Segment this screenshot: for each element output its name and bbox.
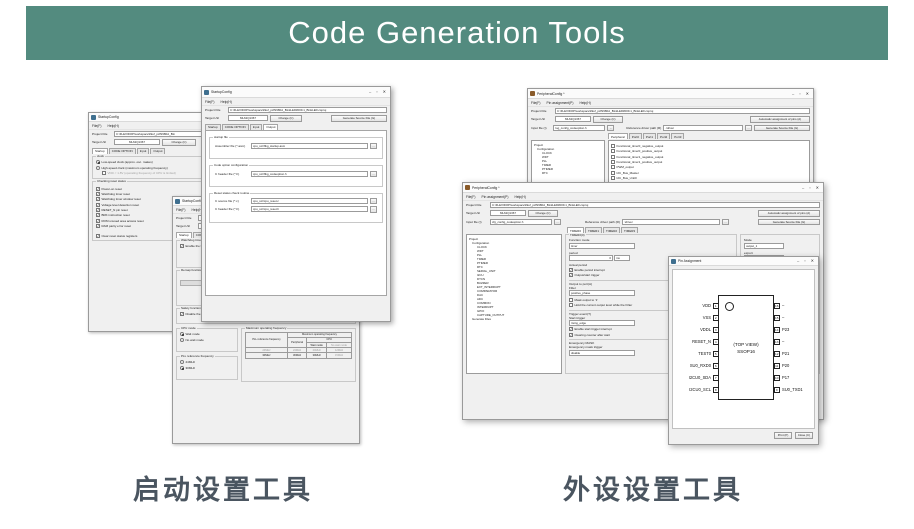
pin-name[interactable]: VDDL (673, 327, 711, 332)
radio-pll-30mhz[interactable]: 30MHz (180, 365, 234, 370)
actual-period-label: Actual period (569, 263, 587, 267)
pin-number: 16 (774, 303, 780, 309)
maximize-icon[interactable]: ▫ (809, 185, 810, 191)
app-icon (530, 91, 535, 96)
project-file-label: Project File (205, 108, 226, 112)
caption-startup-tool: 启动设置工具 (133, 468, 313, 507)
freq-table-title: Maximum operating frequency (245, 326, 287, 330)
app-icon (465, 185, 470, 190)
pin-number: 9 (774, 387, 780, 393)
close-icon[interactable]: ✕ (816, 185, 819, 191)
pin-number: 4 (713, 339, 719, 345)
checkbox-icon[interactable] (611, 176, 615, 180)
pin-name[interactable]: – (782, 315, 784, 320)
watchdog-group-title: Watchdog timer (180, 238, 203, 242)
radio-label: 24MHz (186, 360, 196, 364)
target-lsi-row: Target LSI ML62Q1367 Change (C) Automati… (528, 115, 813, 124)
titlebar[interactable]: PeripheralConfig * – ▫ ✕ (528, 89, 813, 99)
input-file-row: Input file (I) log_config_codeoption.h .… (528, 124, 813, 133)
radio-label: No wait mode (186, 338, 204, 342)
checkbox-icon[interactable]: ✓ (96, 197, 100, 201)
tab-timer1[interactable]: TIMER1 (585, 227, 602, 233)
reset-status-title: Checking reset status (96, 179, 127, 183)
checkbox-icon[interactable]: ✓ (180, 312, 184, 316)
reset-c-header-input[interactable]: cpu_src/cpu_reset.h (251, 206, 368, 212)
max-operating-frequency-table: PLL reference frequency Maximum operatin… (245, 332, 352, 359)
radio-icon[interactable] (180, 360, 184, 364)
safety-group-title: Safety function (180, 306, 202, 310)
close-icon[interactable]: ✕ (811, 258, 814, 264)
reference-path-label: Reference driver path (R) (585, 220, 620, 224)
target-lsi-value: ML62Q1367 (555, 116, 591, 122)
window-title: StartupConfig (98, 115, 119, 119)
change-button[interactable]: Change (C) (270, 115, 302, 122)
code-option-config-title: Code option configuration (213, 163, 249, 167)
target-lsi-label: Target LSI (176, 224, 196, 228)
menu-pin-assignment[interactable]: Pin assignment(P) (482, 195, 509, 199)
pin-name[interactable]: – (782, 303, 784, 308)
emergency-select[interactable]: disable (569, 350, 635, 356)
checkbox-icon[interactable]: ✓ (180, 244, 184, 248)
list-item-label: Functional_timer1_negative_output (617, 155, 664, 159)
pin-number: 15 (774, 315, 780, 321)
period-unit-select[interactable]: ms (614, 255, 630, 261)
menu-file[interactable]: File(F) (92, 124, 102, 128)
menu-file[interactable]: File(F) (176, 208, 186, 212)
checkbox-label: Clear reset status registers (102, 234, 138, 238)
timer-group-title: TIMER0(0) (569, 233, 586, 237)
radio-icon[interactable] (180, 338, 184, 342)
close-icon[interactable]: ✕ (806, 91, 809, 97)
project-file-label: Project File (176, 216, 196, 220)
pin-name[interactable]: SU0_TXD1 (782, 387, 803, 392)
reference-path-browse-button[interactable]: ... (722, 219, 729, 226)
checkbox-icon[interactable]: ✓ (96, 213, 100, 217)
project-file-label: Project File (92, 132, 112, 136)
pin-number: 6 (713, 363, 719, 369)
radio-icon[interactable] (96, 160, 100, 164)
list-item-label: Functional_timer0_positive_output (617, 149, 663, 153)
tab-port1[interactable]: Port1 (643, 133, 656, 139)
project-file-row: Project File C:\FLEXIDOP\workspace\flkuf… (202, 106, 390, 114)
menu-pin-assignment[interactable]: Pin assignment(P) (547, 101, 574, 105)
window-pin-assignment[interactable]: Pin Assignment – ▫ ✕ (TOP VIEW) SSOP16 1… (668, 256, 819, 445)
mode-select[interactable]: output_1 (744, 243, 784, 249)
reference-path-label: Reference driver path (R) (626, 126, 661, 130)
checkbox-icon[interactable]: ✓ (569, 273, 573, 277)
menu-help[interactable]: Help(H) (514, 195, 525, 199)
radio-no-wait-mode[interactable]: No wait mode (180, 337, 234, 342)
mode-label: Mode (744, 238, 816, 242)
project-tree[interactable]: Project Configuration CLOCK WDT PLL TIME… (466, 234, 562, 374)
clock-group-title: clock (96, 154, 105, 158)
pin-name[interactable]: P20 (782, 363, 789, 368)
radio-label: Wait mode (186, 332, 200, 336)
project-file-row: Project File C:\FLEXIDOP\workspace\flkuf… (528, 107, 813, 115)
checkbox-label: Watchdog timer window reset (102, 197, 141, 201)
filter-select[interactable]: positive_phase (569, 290, 635, 296)
change-button[interactable]: Change (C) (593, 116, 623, 123)
generate-source-file-button[interactable]: Generate Source File (G) (754, 125, 810, 132)
list-item-label: PWM_output (617, 165, 634, 169)
target-lsi-row: Target LSI ML62Q1367 Change (C) Automati… (463, 209, 823, 218)
radio-icon[interactable] (96, 166, 100, 170)
pin-name[interactable]: – (782, 339, 784, 344)
reset-c-header-browse-button[interactable]: ... (370, 206, 377, 213)
checkbox-label: Watchdog timer reset (102, 192, 130, 196)
caption-peripheral-tool: 外设设置工具 (563, 468, 743, 507)
tab-port2[interactable]: Port2 (657, 133, 670, 139)
checkbox-icon[interactable]: ✓ (96, 203, 100, 207)
cpu-mode-title: CPU mode (180, 326, 197, 330)
period-input[interactable]: 0 (569, 255, 613, 261)
freq-table-group: Maximum operating frequency PLL referenc… (241, 328, 356, 382)
pin-name[interactable]: P17 (782, 375, 789, 380)
tabstrip[interactable]: Startup CODE OPTION Input Output (202, 123, 390, 130)
checkbox-icon[interactable] (611, 171, 615, 175)
input-file-input[interactable]: cfg_config_codeoption.h (490, 219, 552, 225)
checkbox-label: RAM parity error reset (102, 224, 132, 228)
input-file-label: Input file (I) (531, 126, 551, 130)
pin-name[interactable]: I2CU0_SDA (673, 375, 711, 380)
input-file-input[interactable]: log_config_codeoption.h (553, 125, 605, 131)
print-button[interactable]: Print (P) (774, 432, 792, 439)
project-file-input[interactable]: C:\FLEXIDOP\workspace\flkuf_pcfN980ci_Bi… (490, 202, 820, 208)
header-band: Code Generation Tools (26, 6, 888, 60)
checkbox-icon[interactable] (611, 155, 615, 159)
checkbox-label: Mask output to '1' (575, 298, 598, 302)
pin-name[interactable]: VDD (673, 303, 711, 308)
input-file-label: Input file (I) (466, 220, 488, 224)
checkbox-icon[interactable]: ✓ (96, 224, 100, 228)
checkbox-icon[interactable]: ✓ (96, 208, 100, 212)
maximize-icon[interactable]: ▫ (804, 258, 805, 264)
tab-code-option[interactable]: CODE OPTION (222, 124, 249, 130)
pin-name[interactable]: SU0_RXD0 (673, 363, 711, 368)
reset-routine-title: Reset status check routine (213, 191, 250, 195)
target-lsi-label: Target LSI (466, 211, 488, 215)
app-icon (91, 115, 96, 120)
app-icon (204, 90, 209, 95)
project-file-row: Project File C:\FLEXIDOP\workspace\flkuf… (463, 201, 823, 209)
tabstrip[interactable]: Peripheral Port0 Port1 Port2 Port3 (528, 132, 813, 139)
list-item-label: Functional_timer1_positive_output (617, 160, 663, 164)
window-title: PeripheralConfig * (537, 92, 565, 96)
checkbox-icon[interactable] (611, 160, 615, 164)
checkbox-label: Voltage level detection reset (102, 203, 140, 207)
tab-output[interactable]: Output (263, 124, 278, 130)
list-item-label: I2C_Bus_Master (617, 171, 639, 175)
checkbox-label: VDD < 1.8V (operating frequency of CPU i… (108, 171, 176, 175)
titlebar[interactable]: Pin Assignment – ▫ ✕ (669, 257, 818, 266)
checkbox-icon[interactable] (611, 165, 615, 169)
list-item-label: Functional_timer0_negative_output (617, 144, 664, 148)
pin-number: 13 (774, 339, 780, 345)
checkbox-label: RESET_N pin reset (102, 208, 128, 212)
auto-assign-pins-button[interactable]: Automatic assignment of pins (A) (758, 210, 820, 217)
cell-nowait-30: 15MHz (327, 353, 352, 358)
menu-file[interactable]: File(F) (205, 100, 215, 104)
reset-status-routine-group: Reset status check routine C source file… (209, 193, 383, 223)
menu-file[interactable]: File(F) (531, 101, 541, 105)
checkbox-icon[interactable]: ✓ (96, 187, 100, 191)
pin-name[interactable]: P21 (782, 351, 789, 356)
function-mode-label: Function mode (569, 238, 733, 242)
pin-name[interactable]: P23 (782, 327, 789, 332)
cpu-mode-group: CPU mode Wait mode No wait mode (176, 328, 238, 352)
checkbox-icon[interactable]: ✓ (569, 268, 573, 272)
input-file-browse-button[interactable]: ... (607, 125, 614, 132)
checkbox-label: Power-on reset (102, 187, 122, 191)
pll-ref-group: PLL reference frequency 24MHz 30MHz (176, 356, 238, 380)
checkbox-label: Enable start trigger interrupt (575, 327, 612, 331)
assembler-file-browse-button[interactable]: ... (370, 143, 377, 150)
pin-number: 8 (713, 387, 719, 393)
tab-input[interactable]: Input (250, 124, 263, 130)
tab-startup[interactable]: Startup (205, 124, 221, 130)
menu-help[interactable]: Help(H) (579, 101, 590, 105)
titlebar[interactable]: PeripheralConfig * – ▫ ✕ (463, 183, 823, 193)
tab-timer2[interactable]: TIMER2 (603, 227, 620, 233)
input-file-browse-button[interactable]: ... (554, 219, 561, 226)
checkbox-icon[interactable]: ✓ (569, 327, 573, 331)
codeoption-header-browse-button[interactable]: ... (370, 171, 377, 178)
menu-help[interactable]: Help(H) (221, 100, 232, 104)
cell-pll-30: 30MHz (246, 353, 288, 358)
codeoption-header-label: C header file (*.h) (215, 172, 249, 176)
pin-number: 1 (713, 303, 719, 309)
menubar[interactable]: File(F) Pin assignment(P) Help(H) (528, 99, 813, 107)
window-startupconfig-front[interactable]: StartupConfig – ▫ ✕ File(F) Help(H) Proj… (201, 86, 391, 322)
start-trigger-select[interactable]: rising_edge (569, 320, 635, 326)
checkbox-label: Hold the current output level while the … (575, 303, 633, 307)
close-button[interactable]: Close (C) (795, 432, 813, 439)
pin-name[interactable]: TEST0 (673, 351, 711, 356)
tab-peripheral[interactable]: Peripheral (608, 133, 628, 139)
auto-assign-pins-button[interactable]: Automatic assignment of pins (A) (750, 116, 810, 123)
project-file-label: Project File (531, 109, 553, 113)
change-button[interactable]: Change (C) (162, 139, 196, 146)
pin-number: 11 (774, 363, 780, 369)
tab-output[interactable]: Output (150, 148, 165, 154)
window-title: StartupConfig (211, 90, 232, 94)
checkbox-icon[interactable] (569, 298, 573, 302)
minimize-icon[interactable]: – (802, 185, 804, 191)
pin-name[interactable]: RESET_N (673, 339, 711, 344)
app-icon (671, 259, 676, 264)
pin1-marker-icon (725, 302, 734, 311)
code-option-config-group: Code option configuration C header file … (209, 165, 383, 187)
assembler-file-input[interactable]: cpu_src/flkg_startup.asm (251, 143, 368, 149)
checkbox-icon[interactable]: ✓ (96, 192, 100, 196)
tab-input[interactable]: Input (137, 148, 150, 154)
cell-wait-30: 30MHz (307, 353, 327, 358)
reset-c-source-label: C source file (*.c) (215, 199, 249, 203)
th-peripheral: Peripheral (287, 337, 306, 347)
tab-port3[interactable]: Port3 (671, 133, 684, 139)
maximize-icon[interactable]: ▫ (799, 91, 800, 97)
target-lsi-value: ML62Q1367 (228, 115, 268, 121)
input-file-row: Input file (I) cfg_config_codeoption.h .… (463, 218, 823, 227)
project-file-input[interactable]: C:\FLEXIDOP\workspace\flkuf_pcfN980ci_Bi… (228, 107, 387, 113)
checkbox-label: Enable period interrupt (575, 268, 605, 272)
maximize-icon[interactable]: ▫ (376, 89, 377, 95)
menubar[interactable]: File(F) Help(H) (202, 98, 390, 106)
remap-group-title: Remap function (180, 268, 203, 272)
change-button[interactable]: Change (C) (528, 210, 558, 217)
checkbox-label: BRK instruction reset (102, 213, 130, 217)
target-lsi-label: Target LSI (531, 117, 553, 121)
checkbox-icon[interactable] (611, 144, 615, 148)
pin-name[interactable]: I2CU0_SCL (673, 387, 711, 392)
generate-source-file-button[interactable]: Generate Source File (G) (758, 219, 820, 226)
app-icon (175, 199, 180, 204)
period-label: period (569, 251, 733, 255)
pin-number: 5 (713, 351, 719, 357)
tree-node[interactable]: Generate Files (469, 317, 559, 321)
minimize-icon[interactable]: – (792, 91, 794, 97)
top-view-label: (TOP VIEW) (718, 342, 774, 347)
project-file-input[interactable]: C:\FLEXIDOP\workspace\flkuf_pcfN980ci_Bi… (555, 108, 810, 114)
cell-periph-30: 30MHz (287, 353, 306, 358)
checkbox-icon[interactable]: ✓ (96, 234, 100, 238)
menubar[interactable]: File(F) Pin assignment(P) Help(H) (463, 193, 823, 201)
checkbox-label: Output/start trigger (575, 273, 600, 277)
reference-path-input[interactable]: .\driver (622, 219, 720, 225)
reset-c-header-label: C header file (*.h) (215, 207, 249, 211)
pin-number: 14 (774, 327, 780, 333)
checkbox-icon[interactable]: ✓ (96, 219, 100, 223)
menu-help[interactable]: Help(H) (108, 124, 119, 128)
radio-label: Low-speed clock (approx. osc. makes) (102, 160, 153, 164)
function-mode-select[interactable]: timer (569, 243, 635, 249)
window-title: PeripheralConfig * (472, 186, 500, 190)
pin-diagram: (TOP VIEW) SSOP16 1 VDD 2 VSS 3 VDDL 4 R… (672, 269, 815, 429)
target-lsi-label: Target LSI (205, 116, 226, 120)
radio-label: 30MHz (186, 366, 196, 370)
checkbox-icon[interactable]: ✓ (569, 333, 573, 337)
startup-file-title: startup file (213, 135, 229, 139)
export-label: export (744, 251, 816, 255)
reference-path-input[interactable]: .\driver (663, 125, 743, 131)
window-title: StartupConfig (182, 199, 203, 203)
reference-path-browse-button[interactable]: ... (745, 125, 752, 132)
reset-c-source-browse-button[interactable]: ... (370, 198, 377, 205)
generate-source-file-button[interactable]: Generate Source File (G) (331, 115, 387, 122)
target-lsi-row: Target LSI ML62Q1367 Change (C) Generate… (202, 114, 390, 123)
codeoption-header-input[interactable]: cpu_src/flkg_codeoption.h (251, 171, 368, 177)
pin-number: 10 (774, 375, 780, 381)
checkbox-icon[interactable] (611, 149, 615, 153)
pin-number: 3 (713, 327, 719, 333)
radio-label: High-speed clock (maximum operating freq… (102, 166, 168, 170)
checkbox-icon[interactable] (569, 303, 573, 307)
window-title: Pin Assignment (678, 259, 701, 263)
tab-startup[interactable]: Startup (176, 232, 192, 238)
assembler-file-label: Assembler file (*.asm) (215, 144, 249, 148)
titlebar[interactable]: StartupConfig – ▫ ✕ (202, 87, 390, 98)
project-file-label: Project File (466, 203, 488, 207)
reset-c-source-input[interactable]: cpu_src/cpu_reset.c (251, 198, 368, 204)
checkbox-label: ROM unused area access reset (102, 219, 144, 223)
pll-ref-title: PLL reference frequency (180, 354, 215, 358)
tab-code-option[interactable]: CODE OPTION (109, 148, 136, 154)
radio-icon[interactable] (180, 332, 184, 336)
minimize-icon[interactable]: – (797, 258, 799, 264)
pin-number: 7 (713, 375, 719, 381)
target-lsi-value: ML62Q1367 (490, 210, 526, 216)
pin-number: 12 (774, 351, 780, 357)
menu-file[interactable]: File(F) (466, 195, 476, 199)
tab-port0[interactable]: Port0 (629, 133, 642, 139)
checkbox-icon[interactable] (102, 171, 106, 175)
tab-timer3[interactable]: TIMER3 (621, 227, 638, 233)
radio-icon[interactable] (180, 366, 184, 370)
list-item-label: I2C_Bus_Unit0 (617, 176, 637, 180)
target-lsi-value: ML62Q1367 (114, 139, 160, 145)
th-pll-ref: PLL reference frequency (246, 332, 288, 348)
page-title: Code Generation Tools (288, 15, 626, 51)
close-icon[interactable]: ✕ (383, 89, 386, 95)
chip-body (718, 295, 774, 400)
target-lsi-label: Target LSI (92, 140, 112, 144)
tabstrip[interactable]: TIMER0 TIMER1 TIMER2 TIMER3 (463, 226, 823, 233)
pin-name[interactable]: VSS (673, 315, 711, 320)
tab-startup[interactable]: Startup (92, 148, 108, 154)
tree-node[interactable]: RTC (534, 171, 602, 175)
minimize-icon[interactable]: – (369, 89, 371, 95)
package-label: SSOP16 (718, 349, 774, 354)
pin-number: 2 (713, 315, 719, 321)
startup-file-group: startup file Assembler file (*.asm) cpu_… (209, 137, 383, 159)
checkbox-label: Clearing counter after start (575, 333, 611, 337)
